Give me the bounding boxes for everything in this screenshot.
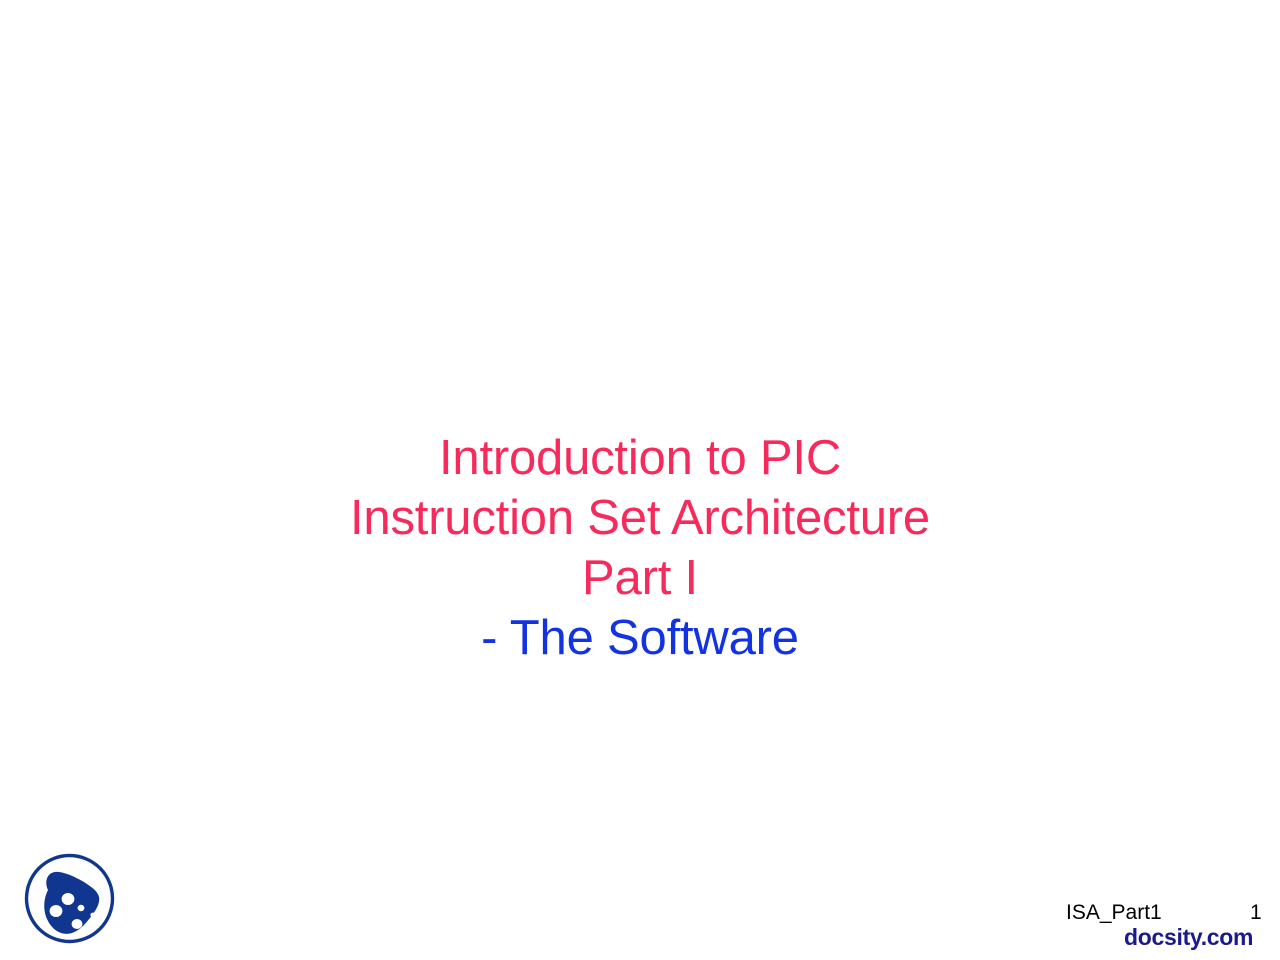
slide-canvas: Introduction to PIC Instruction Set Arch…	[0, 0, 1280, 960]
docsity-watermark: docsity.com	[1124, 924, 1253, 950]
title-line-3: Part I	[0, 548, 1280, 608]
footer-deck-name: ISA_Part1	[1066, 900, 1162, 926]
title-block: Introduction to PIC Instruction Set Arch…	[0, 428, 1280, 668]
subtitle-line: - The Software	[0, 608, 1280, 668]
title-line-2: Instruction Set Architecture	[0, 488, 1280, 548]
title-line-1: Introduction to PIC	[0, 428, 1280, 488]
footer-page-number: 1	[1250, 900, 1262, 926]
docsity-logo-icon	[23, 852, 116, 945]
